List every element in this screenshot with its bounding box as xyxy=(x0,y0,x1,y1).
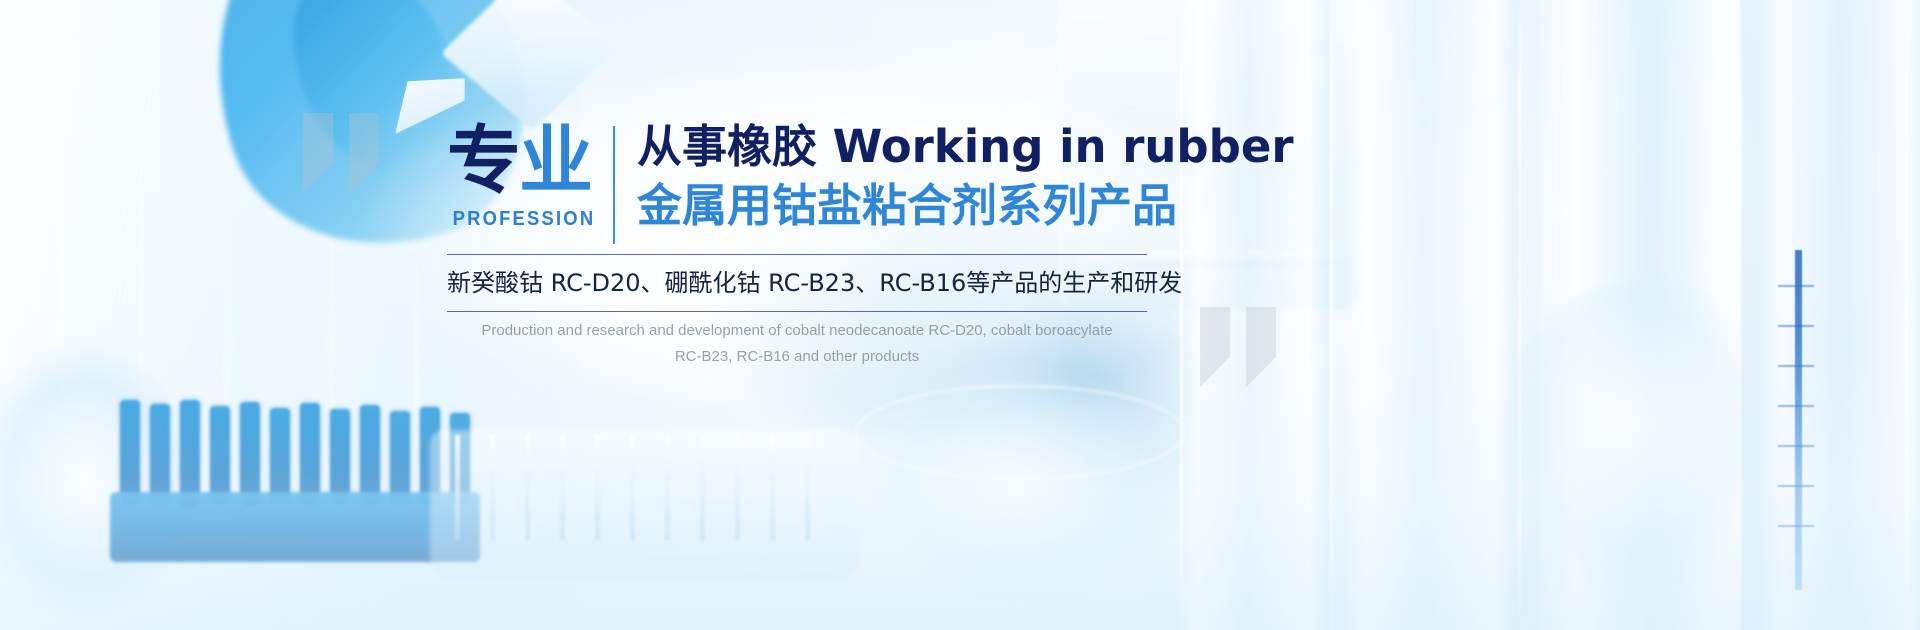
profession-badge-char-secondary: 业 xyxy=(519,118,591,204)
subtitle-block: 新癸酸钴 RC-D20、硼酰化钴 RC-B23、RC-B16等产品的生产和研发 xyxy=(447,254,1147,312)
vertical-divider xyxy=(613,126,615,244)
subtitle-english: Production and research and development … xyxy=(447,318,1147,370)
banner-content: 专业 PROFESSION 从事橡胶 Working in rubber 金属用… xyxy=(0,0,1920,630)
headline-row: 专业 PROFESSION 从事橡胶 Working in rubber 金属用… xyxy=(447,118,1294,244)
rule-top xyxy=(447,254,1147,255)
profession-badge-chars: 专业 xyxy=(447,122,587,200)
profession-label: PROFESSION xyxy=(453,208,582,231)
subtitle-english-line-1: Production and research and development … xyxy=(447,318,1147,344)
hero-banner: 专业 PROFESSION 从事橡胶 Working in rubber 金属用… xyxy=(0,0,1920,630)
subtitle-english-line-2: RC-B23, RC-B16 and other products xyxy=(447,344,1147,370)
headline-text: 从事橡胶 Working in rubber 金属用钴盐粘合剂系列产品 xyxy=(637,118,1294,234)
profession-badge-char-primary: 专 xyxy=(447,118,519,204)
subtitle-chinese: 新癸酸钴 RC-D20、硼酰化钴 RC-B23、RC-B16等产品的生产和研发 xyxy=(447,255,1147,311)
headline-line-1: 从事橡胶 Working in rubber xyxy=(637,120,1294,174)
rule-bottom xyxy=(447,311,1147,312)
profession-badge: 专业 PROFESSION xyxy=(447,118,587,231)
headline-line-2: 金属用钴盐粘合剂系列产品 xyxy=(637,178,1294,234)
